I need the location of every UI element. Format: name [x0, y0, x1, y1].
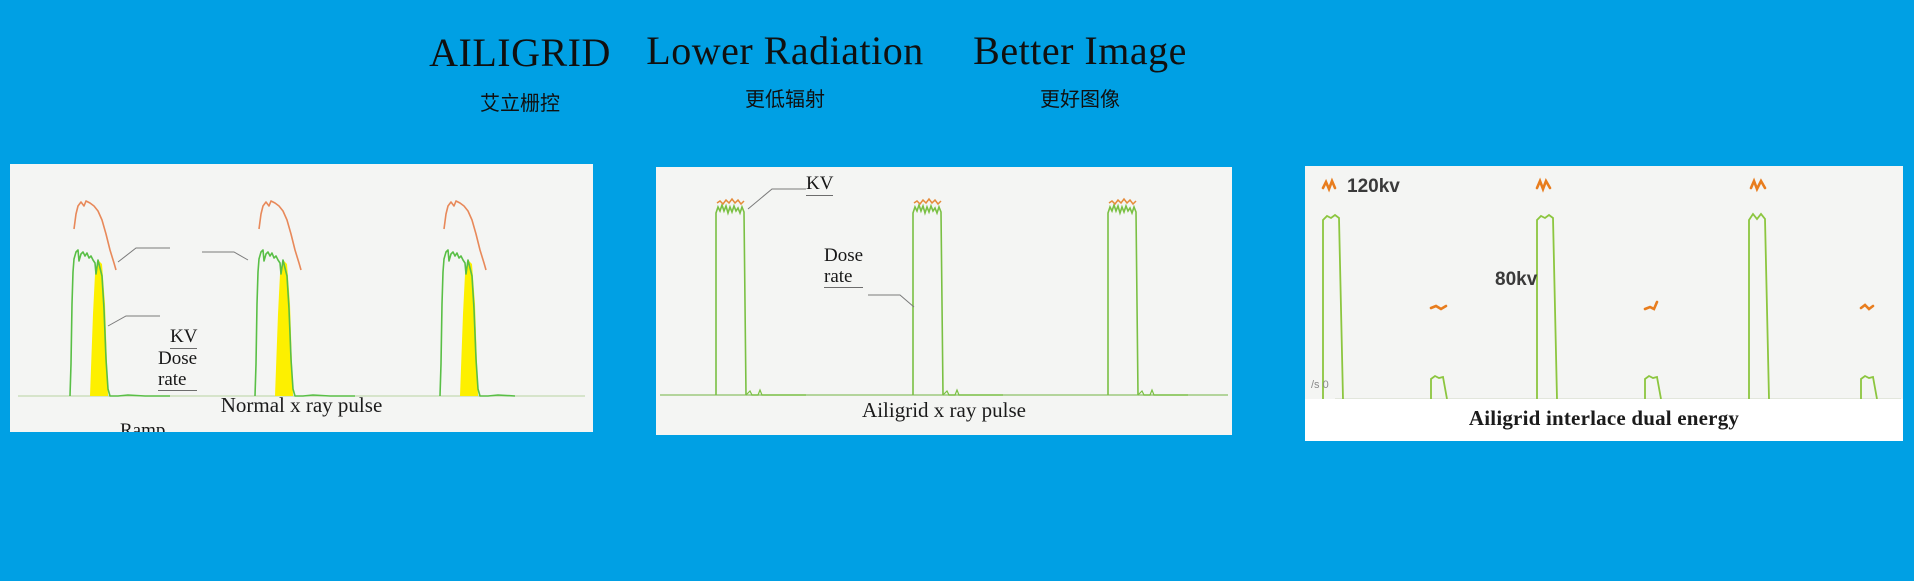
kv-annotation-label: KV [806, 173, 833, 196]
kv-trace [717, 199, 744, 204]
tail-noise [943, 390, 1003, 395]
header-lower-radiation-en: Lower Radiation [625, 28, 945, 74]
dose-rate-leader-line [868, 295, 914, 307]
pulse-group-3 [440, 201, 515, 396]
kv-trace [74, 201, 116, 270]
pulse-120kv-1 [1323, 215, 1343, 399]
kv-burst-marks-80 [1431, 302, 1873, 309]
dose-rate-trace [440, 250, 515, 396]
dose-rate-annotation: Dose rate [824, 245, 863, 289]
kv-leader-line [748, 189, 806, 209]
pulse-120kv-2 [1537, 215, 1557, 399]
dose-rate-trace [716, 205, 746, 395]
chart-normal-x-ray-pulse [10, 164, 593, 432]
dose-rate-annotation: Dose rate [158, 348, 197, 392]
dose-rate-line1: Dose [824, 245, 863, 266]
header-group-better-image: Better Image 更好图像 [920, 28, 1240, 112]
header: AILIGRID 艾立栅控 Lower Radiation 更低辐射 Bette… [0, 0, 1914, 140]
panel-normal-caption: Normal x ray pulse [10, 393, 593, 418]
dose-trace-short [1431, 376, 1447, 399]
panel-ailigrid-x-ray-pulse: KV Dose rate Ailigrid x ray pulse [656, 167, 1232, 435]
kv-trace [1109, 199, 1136, 204]
header-better-image-en: Better Image [920, 28, 1240, 74]
legend-label-80kv: 80kv [1495, 269, 1537, 291]
dose-trace-short [1645, 376, 1661, 399]
pulse-80kv-1 [1431, 376, 1447, 399]
dose-rate-trace [1108, 205, 1138, 395]
dose-rate-line1: Dose [158, 348, 197, 369]
pulse-group-1 [70, 201, 170, 396]
panel-normal-x-ray-pulse: KV Dose rate Ramp radiation Normal x ray… [10, 164, 593, 432]
kv-trace [259, 201, 301, 270]
header-lower-radiation-cn: 更低辐射 [625, 86, 945, 112]
dose-rate-trace [913, 205, 943, 395]
pulse-80kv-3 [1861, 376, 1877, 399]
pulse-1 [716, 199, 806, 395]
dose-trace-short [1861, 376, 1877, 399]
ramp-radiation-line1: Ramp [120, 420, 188, 432]
header-group-lower-radiation: Lower Radiation 更低辐射 [625, 28, 945, 112]
ramp-radiation-leader-line [108, 316, 160, 326]
legend-label-120kv: 120kv [1347, 176, 1400, 198]
pulse-group-2 [255, 201, 355, 396]
dose-trace-tall [1323, 215, 1343, 399]
kv-trace [914, 199, 941, 204]
header-better-image-cn: 更好图像 [920, 86, 1240, 112]
dose-rate-line2: rate [158, 369, 197, 391]
pulse-3 [1108, 199, 1188, 395]
tail-noise [1138, 390, 1188, 395]
kv-trace [444, 201, 486, 270]
pulse-80kv-2 [1645, 376, 1661, 399]
kv-annotation-label: KV [170, 326, 197, 349]
pulse-120kv-3 [1749, 214, 1769, 399]
dose-rate-trace [255, 250, 355, 396]
dose-rate-leader-line [202, 252, 248, 260]
dose-rate-line2: rate [824, 266, 863, 288]
ramp-radiation-annotation: Ramp radiation [120, 420, 188, 432]
dose-rate-trace [70, 250, 170, 396]
dose-trace-tall [1537, 215, 1557, 399]
chart-ailigrid-x-ray-pulse [656, 167, 1232, 435]
panel-dual-energy-caption: Ailigrid interlace dual energy [1305, 406, 1903, 431]
panel-ailigrid-interlace-dual-energy: /s 0 120kv 80kv Ailigrid interlace dual … [1305, 166, 1903, 441]
kv-leader-line [118, 248, 170, 262]
panel-ailigrid-caption: Ailigrid x ray pulse [656, 398, 1232, 423]
dose-trace-tall [1749, 214, 1769, 399]
pulse-2 [913, 199, 1003, 395]
axis-origin-label: /s 0 [1311, 379, 1329, 391]
tail-noise [746, 390, 806, 395]
